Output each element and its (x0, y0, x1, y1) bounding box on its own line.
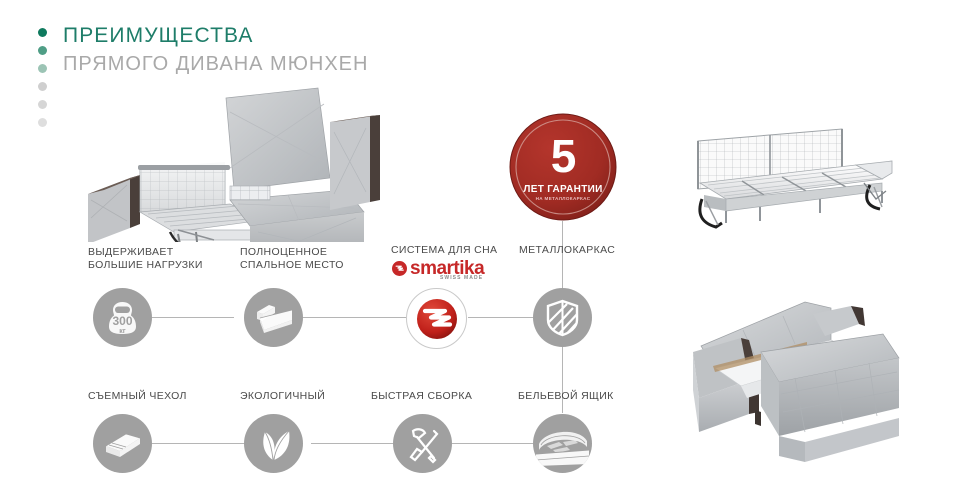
connector-row1-a (152, 317, 234, 318)
feature-label-load: ВЫДЕРЖИВАЕТ БОЛЬШИЕ НАГРУЗКИ (88, 246, 203, 272)
feature-icon-eco[interactable] (244, 414, 303, 473)
title-subtitle: ПРЯМОГО ДИВАНА МЮНХЕН (63, 52, 368, 76)
feature-icon-quick-assembly[interactable] (393, 414, 452, 473)
connector-shield-to-storage (562, 347, 563, 413)
feature-label-metal-frame: МЕТАЛЛОКАРКАС (519, 244, 615, 257)
feature-icon-sleeping-place[interactable] (244, 288, 303, 347)
feature-icon-removable-cover[interactable] (93, 414, 152, 473)
badge-sub-text: НА МЕТАЛЛОКАРКАС (536, 196, 591, 202)
badge-main-text: ЛЕТ ГАРАНТИИ (523, 184, 602, 195)
storage-box-icon (533, 414, 592, 473)
dot-3 (38, 64, 47, 73)
leaves-icon (244, 414, 303, 473)
dot-4 (38, 82, 47, 91)
cover-icon (93, 414, 152, 473)
feature-icon-storage-box[interactable] (533, 414, 592, 473)
smartika-mark-icon (392, 261, 407, 276)
smartika-tagline: SWISS MADE (440, 275, 483, 281)
feature-icon-metal-frame[interactable] (533, 288, 592, 347)
feature-icon-load[interactable]: 300 кг (93, 288, 152, 347)
sofa-unfolded-photo (655, 290, 955, 465)
decorative-dot-column (38, 28, 50, 136)
shield-icon (533, 288, 592, 347)
feature-label-sleep-system: СИСТЕМА ДЛЯ СНА (391, 244, 497, 257)
dot-2 (38, 46, 47, 55)
advantages-infographic: ПРЕИМУЩЕСТВА ПРЯМОГО ДИВАНА МЮНХЕН (0, 0, 968, 500)
page-title: ПРЕИМУЩЕСТВА ПРЯМОГО ДИВАНА МЮНХЕН (63, 24, 368, 76)
dot-6 (38, 118, 47, 127)
feature-icon-sleep-system[interactable] (406, 288, 467, 349)
connector-row2-c (452, 443, 533, 444)
connector-row1-c (468, 317, 533, 318)
feature-label-eco: ЭКОЛОГИЧНЫЙ (240, 390, 325, 403)
svg-text:кг: кг (119, 328, 126, 335)
svg-text:300: 300 (112, 314, 132, 328)
dot-5 (38, 100, 47, 109)
feature-label-storage-box: БЕЛЬЕВОЙ ЯЩИК (518, 390, 614, 403)
smartika-logo: smartika SWISS MADE (392, 259, 484, 278)
bed-icon (244, 288, 303, 347)
connector-row2-a (152, 443, 252, 444)
tools-icon (393, 414, 452, 473)
feature-label-sleeping-place: ПОЛНОЦЕННОЕ СПАЛЬНОЕ МЕСТО (240, 246, 344, 272)
title-main: ПРЕИМУЩЕСТВА (63, 24, 368, 48)
kettlebell-icon: 300 кг (93, 288, 152, 347)
badge-number: 5 (551, 136, 576, 176)
smartika-circle-icon (406, 288, 467, 349)
connector-row1-b (303, 317, 406, 318)
feature-label-quick-assembly: БЫСТРАЯ СБОРКА (371, 390, 472, 403)
metal-frame-photo (660, 95, 960, 235)
sofa-cutaway-photo (78, 82, 408, 242)
dot-1 (38, 28, 47, 37)
feature-label-removable-cover: СЪЕМНЫЙ ЧЕХОЛ (88, 390, 187, 403)
connector-row2-b (311, 443, 393, 444)
guarantee-badge: 5 ЛЕТ ГАРАНТИИ НА МЕТАЛЛОКАРКАС (509, 113, 617, 221)
